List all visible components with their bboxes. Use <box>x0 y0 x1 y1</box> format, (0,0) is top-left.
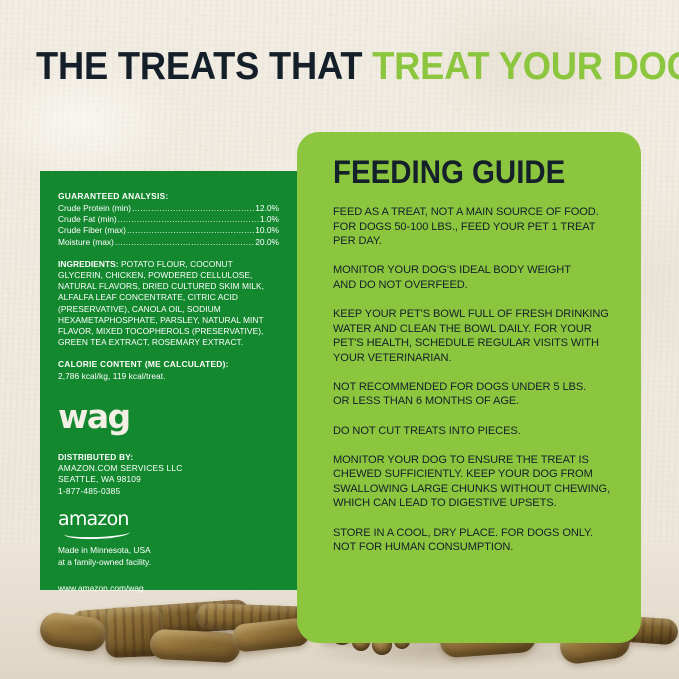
feeding-guide-paragraph: MONITOR YOUR DOG'S IDEAL BODY WEIGHT AND… <box>333 263 613 292</box>
distributed-by-heading: DISTRIBUTED BY: <box>58 452 279 463</box>
made-in-text: Made in Minnesota, USA at a family-owned… <box>58 545 279 568</box>
distributor-city: SEATTLE, WA 98109 <box>58 474 279 485</box>
distributor-phone: 1-877-485-0385 <box>58 486 279 497</box>
analysis-value: 12.0% <box>255 203 279 214</box>
analysis-row: Crude Fat (min) ........................… <box>58 214 279 225</box>
analysis-dots: ........................................… <box>127 225 254 236</box>
analysis-dots: ........................................… <box>118 214 259 225</box>
guaranteed-analysis-heading: GUARANTEED ANALYSIS: <box>58 191 279 201</box>
headline-green-text: TREAT YOUR DOG RIGHT <box>372 45 679 88</box>
page-headline: THE TREATS THAT TREAT YOUR DOG RIGHT <box>36 46 605 88</box>
feeding-guide-paragraph: MONITOR YOUR DOG TO ENSURE THE TREAT IS … <box>333 453 613 511</box>
analysis-name: Crude Fiber (max) <box>58 225 126 236</box>
feeding-guide-paragraph: DO NOT CUT TREATS INTO PIECES. <box>333 424 613 439</box>
ingredients-text: POTATO FLOUR, COCONUT GLYCERIN, CHICKEN,… <box>58 259 264 347</box>
analysis-name: Moisture (max) <box>58 237 114 248</box>
analysis-value: 20.0% <box>255 237 279 248</box>
analysis-dots: ........................................… <box>115 237 254 248</box>
amazon-smile-icon <box>64 526 130 540</box>
analysis-name: Crude Protein (min) <box>58 203 131 214</box>
analysis-dots: ........................................… <box>132 203 254 214</box>
calorie-content-block: CALORIE CONTENT (ME CALCULATED): 2,786 k… <box>58 359 279 382</box>
analysis-row: Crude Fiber (max) ......................… <box>58 225 279 236</box>
analysis-value: 10.0% <box>255 225 279 236</box>
distributor-name: AMAZON.COM SERVICES LLC <box>58 463 279 474</box>
feeding-guide-paragraph: STORE IN A COOL, DRY PLACE. FOR DOGS ONL… <box>333 526 613 555</box>
ingredients-label: INGREDIENTS: <box>58 259 119 269</box>
calorie-content-value: 2,786 kcal/kg, 119 kcal/treat. <box>58 371 279 382</box>
ingredients-block: INGREDIENTS: POTATO FLOUR, COCONUT GLYCE… <box>58 259 279 349</box>
nutrition-panel: GUARANTEED ANALYSIS: Crude Protein (min)… <box>40 171 297 590</box>
product-label-image: THE TREATS THAT TREAT YOUR DOG RIGHT GUA… <box>0 0 679 679</box>
feeding-guide-title: FEEDING GUIDE <box>333 156 591 189</box>
wag-brand-logo: wag <box>58 400 279 433</box>
feeding-guide-panel: FEEDING GUIDE FEED AS A TREAT, NOT A MAI… <box>297 132 641 643</box>
analysis-value: 1.0% <box>260 214 279 225</box>
website-url: www.amazon.com/wag <box>58 583 279 593</box>
headline-dark-text: THE TREATS THAT <box>36 45 372 88</box>
analysis-row: Crude Protein (min) ....................… <box>58 203 279 214</box>
analysis-row: Moisture (max) .........................… <box>58 237 279 248</box>
amazon-logo: amazon <box>58 510 144 536</box>
distributed-by-block: DISTRIBUTED BY: AMAZON.COM SERVICES LLC … <box>58 452 279 498</box>
feeding-guide-paragraph: FEED AS A TREAT, NOT A MAIN SOURCE OF FO… <box>333 205 613 249</box>
analysis-name: Crude Fat (min) <box>58 214 117 225</box>
calorie-content-heading: CALORIE CONTENT (ME CALCULATED): <box>58 359 279 369</box>
dog-treat <box>149 629 240 664</box>
feeding-guide-paragraph: NOT RECOMMENDED FOR DOGS UNDER 5 LBS. OR… <box>333 380 613 409</box>
feeding-guide-paragraph: KEEP YOUR PET'S BOWL FULL OF FRESH DRINK… <box>333 307 613 365</box>
